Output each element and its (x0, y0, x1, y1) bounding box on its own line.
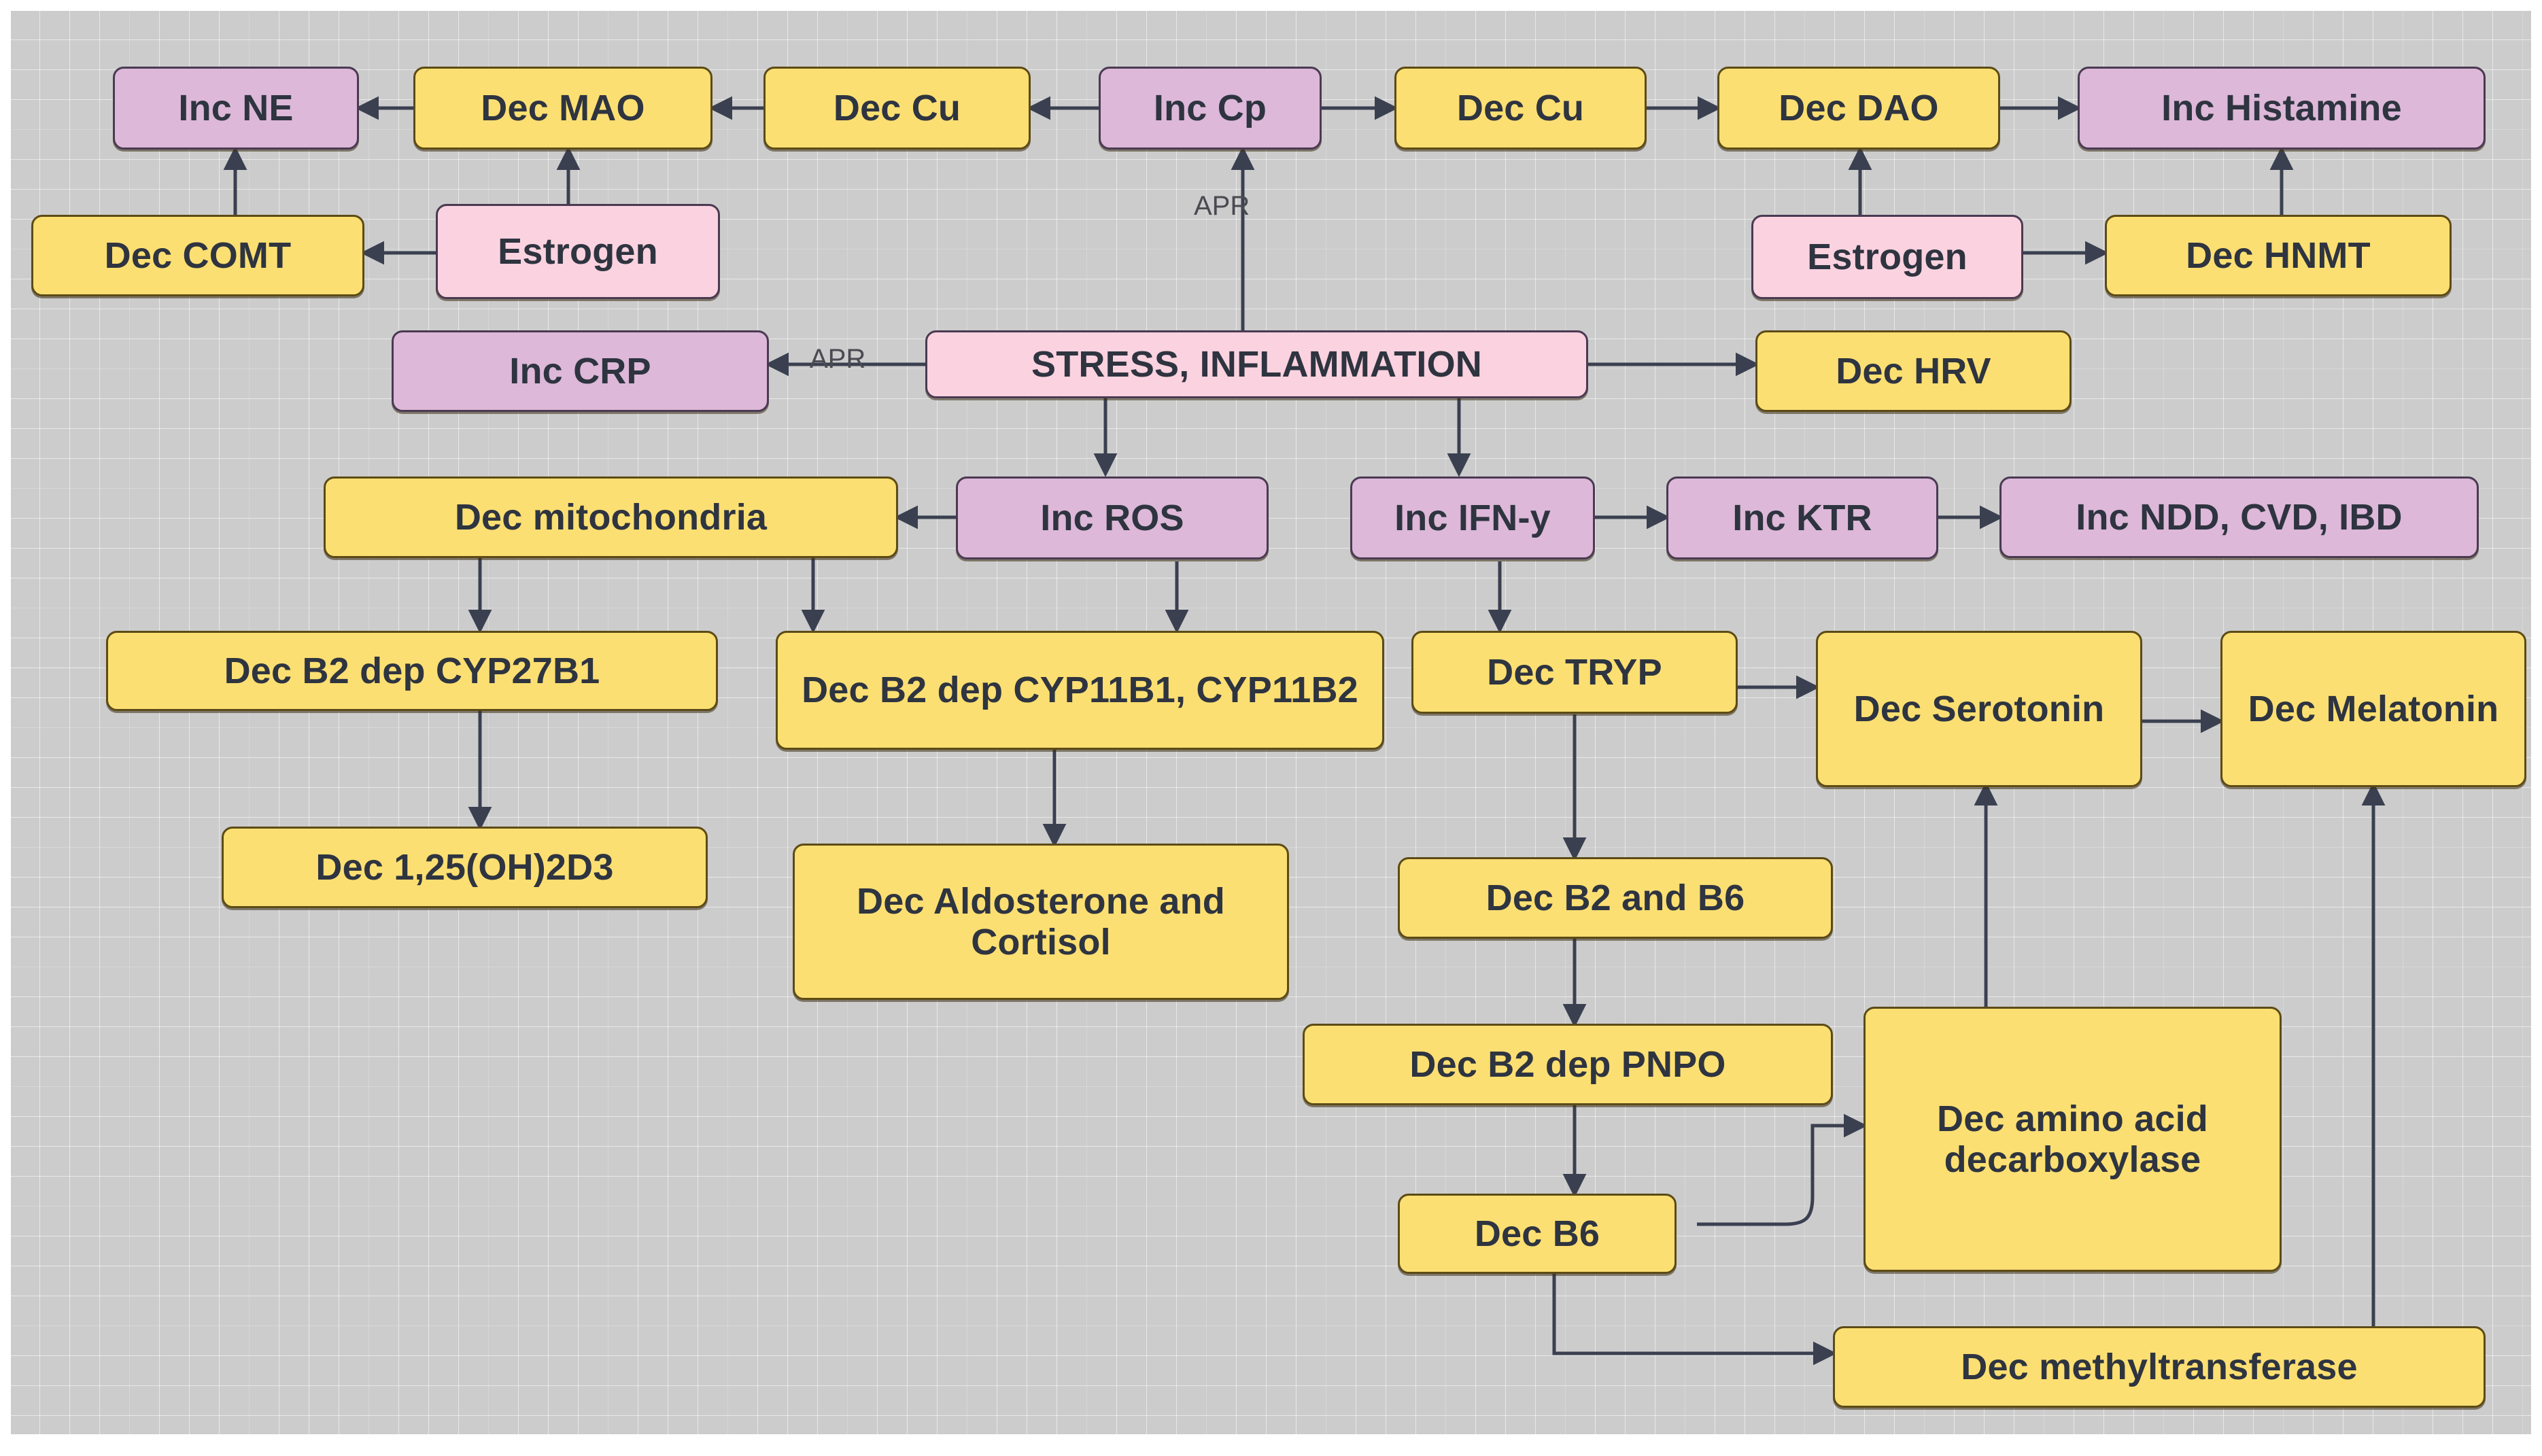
edge-dec_b6-dec_methyl (1554, 1265, 1833, 1353)
node-dec-amino-acid-decarboxylase[interactable]: Dec amino acid decarboxylase (1863, 1007, 2282, 1272)
edge-label-apr-crp: APR (810, 344, 865, 375)
node-inc-ifn-y[interactable]: Inc IFN-y (1350, 476, 1595, 559)
node-dec-cu-left[interactable]: Dec Cu (763, 67, 1031, 150)
node-estrogen-right[interactable]: Estrogen (1751, 215, 2023, 299)
node-dec-aldosterone-cortisol[interactable]: Dec Aldosterone and Cortisol (793, 844, 1289, 1000)
node-inc-histamine[interactable]: Inc Histamine (2078, 67, 2486, 150)
node-label: Dec COMT (105, 235, 292, 276)
node-label: STRESS, INFLAMMATION (1031, 344, 1482, 385)
node-label: Inc KTR (1732, 498, 1872, 538)
node-label: Dec methyltransferase (1961, 1347, 2358, 1387)
node-label: Inc ROS (1040, 498, 1184, 538)
node-dec-dao[interactable]: Dec DAO (1717, 67, 2000, 150)
node-label: Inc IFN-y (1394, 498, 1551, 538)
node-label: Dec mitochondria (455, 497, 767, 538)
node-inc-ros[interactable]: Inc ROS (956, 476, 1269, 559)
node-inc-ne[interactable]: Inc NE (113, 67, 359, 150)
node-inc-crp[interactable]: Inc CRP (392, 330, 769, 412)
node-label: Dec B2 dep CYP11B1, CYP11B2 (802, 670, 1358, 710)
node-dec-vitamin-d[interactable]: Dec 1,25(OH)2D3 (222, 827, 708, 908)
node-label: Dec B2 dep CYP27B1 (224, 651, 600, 691)
node-label: Dec MAO (481, 88, 645, 128)
node-dec-cu-right[interactable]: Dec Cu (1394, 67, 1647, 150)
node-inc-cp[interactable]: Inc Cp (1099, 67, 1322, 150)
node-inc-ktr[interactable]: Inc KTR (1666, 476, 1938, 559)
node-label: Dec Aldosterone and Cortisol (803, 881, 1279, 963)
node-dec-b2-dep-cyp11b[interactable]: Dec B2 dep CYP11B1, CYP11B2 (776, 631, 1384, 750)
node-label: Dec DAO (1779, 88, 1938, 128)
node-label: Dec Cu (1457, 88, 1584, 128)
node-label: Dec Melatonin (2248, 689, 2499, 729)
node-dec-hrv[interactable]: Dec HRV (1755, 330, 2072, 412)
node-label: Estrogen (498, 231, 658, 272)
node-dec-tryp[interactable]: Dec TRYP (1411, 631, 1738, 714)
diagram-canvas: Inc NE Dec MAO Dec Cu Inc Cp Dec Cu Dec … (11, 11, 2531, 1434)
node-dec-mao[interactable]: Dec MAO (413, 67, 712, 150)
node-label: Dec B2 and B6 (1486, 878, 1745, 918)
node-label: Dec Cu (834, 88, 961, 128)
diagram-stage: Inc NE Dec MAO Dec Cu Inc Cp Dec Cu Dec … (0, 0, 2542, 1456)
node-dec-b6[interactable]: Dec B6 (1398, 1194, 1677, 1274)
node-label: Dec 1,25(OH)2D3 (315, 847, 613, 888)
node-label: Inc Cp (1154, 88, 1267, 128)
node-label: Inc Histamine (2161, 88, 2402, 128)
node-label: Inc NDD, CVD, IBD (2076, 497, 2402, 538)
node-inc-ndd-cvd-ibd[interactable]: Inc NDD, CVD, IBD (1999, 476, 2479, 558)
node-label: Dec amino acid decarboxylase (1874, 1098, 2271, 1181)
node-label: Dec B2 dep PNPO (1409, 1044, 1725, 1085)
node-dec-methyltransferase[interactable]: Dec methyltransferase (1833, 1326, 2486, 1408)
node-label: Dec B6 (1475, 1213, 1600, 1254)
node-label: Dec TRYP (1487, 652, 1662, 693)
node-dec-serotonin[interactable]: Dec Serotonin (1816, 631, 2142, 787)
node-label: Dec HNMT (2186, 235, 2371, 276)
node-label: Dec Serotonin (1854, 689, 2105, 729)
node-stress-inflammation[interactable]: STRESS, INFLAMMATION (925, 330, 1588, 398)
node-dec-b2-dep-pnpo[interactable]: Dec B2 dep PNPO (1303, 1024, 1833, 1105)
node-dec-b2-dep-cyp27b1[interactable]: Dec B2 dep CYP27B1 (106, 631, 718, 711)
node-label: Inc NE (178, 88, 293, 128)
node-dec-comt[interactable]: Dec COMT (31, 215, 364, 296)
node-dec-mitochondria[interactable]: Dec mitochondria (324, 476, 898, 558)
node-dec-hnmt[interactable]: Dec HNMT (2105, 215, 2452, 296)
node-dec-b2-and-b6[interactable]: Dec B2 and B6 (1398, 857, 1833, 939)
node-label: Estrogen (1807, 237, 1968, 277)
node-label: Inc CRP (509, 351, 651, 392)
node-dec-melatonin[interactable]: Dec Melatonin (2220, 631, 2526, 787)
edge-dec_b6-dec_aad (1697, 1126, 1863, 1224)
edge-label-apr-cp: APR (1194, 191, 1250, 222)
node-label: Dec HRV (1836, 351, 1991, 392)
node-estrogen-left[interactable]: Estrogen (436, 204, 720, 299)
